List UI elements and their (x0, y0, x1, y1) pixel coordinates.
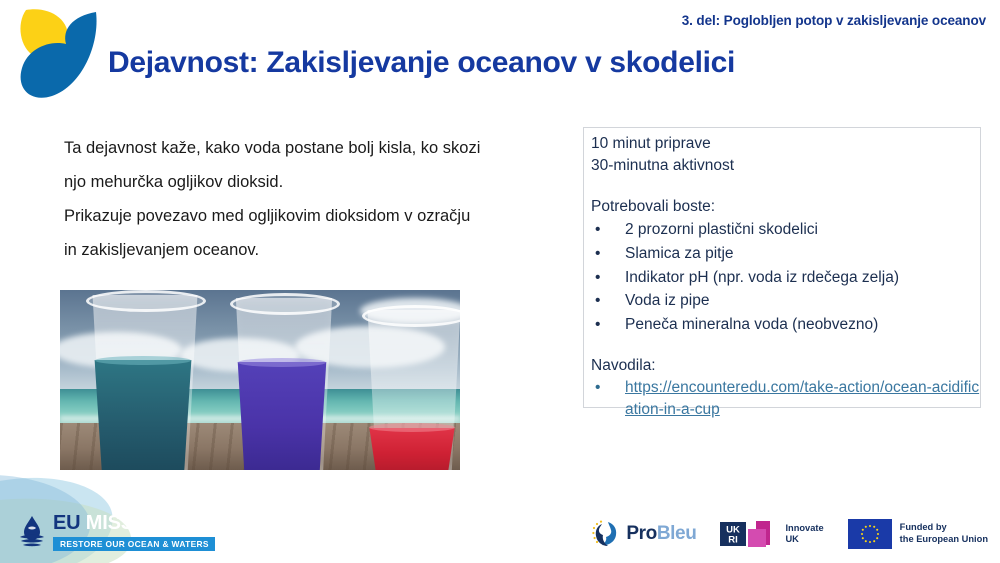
cup-teal (84, 295, 202, 470)
ukri-mark-icon: UK RI (720, 519, 778, 549)
list-item: • Indikator pH (npr. voda iz rdečega zel… (591, 266, 991, 290)
slide-canvas: 3. del: Poglobljen potop v zakisljevanje… (0, 0, 1000, 563)
probleu-wordmark: ProBleu (626, 523, 696, 545)
activity-time: 30-minutna aktivnost (591, 155, 991, 177)
section-kicker: 3. del: Poglobljen potop v zakisljevanje… (646, 12, 986, 30)
svg-text:RI: RI (729, 534, 739, 545)
list-item-label: Indikator pH (npr. voda iz rdečega zelja… (625, 269, 899, 286)
page-title: Dejavnost: Zakisljevanje oceanov v skode… (108, 46, 735, 80)
bullet-icon: • (595, 218, 600, 242)
probleu-word-bleu: Bleu (657, 523, 697, 544)
spacer (591, 177, 991, 196)
prep-time: 10 minut priprave (591, 133, 991, 155)
bullet-icon: • (595, 266, 600, 290)
instructions-link[interactable]: https://encounteredu.com/take-action/oce… (625, 377, 983, 421)
eu-funding-line-1: Funded by (900, 522, 988, 534)
list-item-label: Slamica za pitje (625, 245, 734, 262)
bullet-icon: • (595, 377, 600, 399)
probleu-word-pro: Pro (626, 523, 656, 544)
list-item: • Slamica za pitje (591, 242, 991, 266)
cup-violet (228, 298, 336, 470)
spacer (591, 336, 991, 355)
water-drop-icon (17, 515, 47, 549)
lead-line-4: in zakisljevanjem oceanov. (64, 233, 569, 267)
list-item-label: 2 prozorni plastični skodelici (625, 221, 818, 238)
brand-logo-icon (8, 4, 104, 104)
instructions-heading: Navodila: (591, 355, 991, 377)
eu-missions-title-missions: MISSIONS (86, 512, 182, 534)
cup-meniscus (95, 356, 192, 365)
instructions-link-item: • https://encounteredu.com/take-action/o… (591, 377, 991, 421)
materials-heading: Potrebovali boste: (591, 196, 991, 218)
cup-meniscus (369, 423, 454, 432)
cup-meniscus (238, 358, 327, 367)
list-item: • Peneča mineralna voda (neobvezno) (591, 313, 991, 337)
probleu-logo: ProBleu (590, 519, 696, 549)
ukri-innovate-uk-logo: UK RI Innovate UK (720, 519, 823, 549)
eu-missions-tagline: RESTORE OUR OCEAN & WATERS (53, 537, 215, 551)
cup-liquid (228, 362, 336, 470)
eu-missions-logo: EU MISSIONS RESTORE OUR OCEAN & WATERS (17, 513, 215, 551)
cup-liquid (360, 428, 460, 470)
list-item-label: Voda iz pipe (625, 292, 709, 309)
cup-rim (230, 293, 340, 315)
cup-rim (362, 305, 460, 327)
cup-red (360, 310, 460, 470)
bullet-icon: • (595, 289, 600, 313)
eu-missions-title-eu: EU (53, 512, 80, 534)
lead-line-2: njo mehurčka ogljikov dioksid. (64, 165, 569, 199)
list-item: • 2 prozorni plastični skodelici (591, 218, 991, 242)
eu-funding-line-2: the European Union (900, 534, 988, 546)
info-card-content: 10 minut priprave 30-minutna aktivnost P… (591, 133, 991, 421)
cup-liquid (84, 360, 202, 470)
innovate-uk-text: Innovate UK (785, 523, 823, 546)
eu-missions-title: EU MISSIONS (53, 513, 215, 533)
lead-line-1: Ta dejavnost kaže, kako voda postane bol… (64, 131, 569, 165)
bullet-icon: • (595, 313, 600, 337)
innovate-uk-line-2: UK (785, 534, 823, 545)
activity-photo (60, 290, 460, 470)
eu-flag-icon (848, 519, 892, 549)
eu-funding-logo: Funded by the European Union (848, 519, 988, 549)
materials-list: • 2 prozorni plastični skodelici • Slami… (591, 218, 991, 336)
lead-line-3: Prikazuje povezavo med ogljikovim dioksi… (64, 199, 569, 233)
partner-logos: ProBleu UK RI Innovate UK (590, 519, 988, 549)
eu-funding-text: Funded by the European Union (900, 522, 988, 545)
eu-missions-text: EU MISSIONS RESTORE OUR OCEAN & WATERS (53, 513, 215, 551)
cup-rim (86, 290, 205, 312)
lead-paragraph: Ta dejavnost kaže, kako voda postane bol… (64, 131, 569, 268)
list-item-label: Peneča mineralna voda (neobvezno) (625, 316, 878, 333)
innovate-uk-line-1: Innovate (785, 523, 823, 534)
probleu-swirl-icon (590, 519, 620, 549)
list-item: • Voda iz pipe (591, 289, 991, 313)
bullet-icon: • (595, 242, 600, 266)
